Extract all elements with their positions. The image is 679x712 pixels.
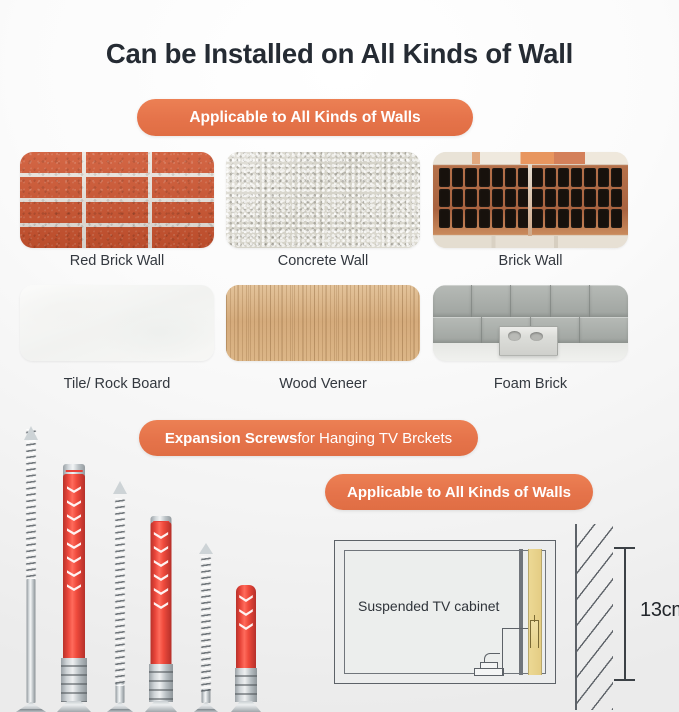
wall-type-wood-veneer: Wood Veneer — [226, 285, 420, 397]
device-wire — [484, 653, 500, 662]
hollow-foam-block — [499, 326, 558, 356]
wood-veneer-texture — [226, 285, 420, 361]
wall-socket — [530, 620, 539, 648]
cable-conduit — [502, 628, 528, 676]
wall-type-red-brick: Red Brick Wall — [20, 152, 214, 272]
fastener-group — [0, 408, 300, 712]
badge-label: Applicable to All Kinds of Walls — [347, 484, 571, 501]
badge-applicable-walls-bottom: Applicable to All Kinds of Walls — [325, 474, 593, 510]
wall-type-concrete: Concrete Wall — [226, 152, 420, 272]
concrete-texture — [226, 152, 420, 248]
wall-type-label: Wood Veneer — [226, 376, 420, 392]
dimension-line — [624, 547, 626, 681]
device-base — [474, 668, 504, 676]
hollow-brick-texture — [433, 152, 628, 248]
badge-label: Applicable to All Kinds of Walls — [189, 109, 420, 127]
foam-brick-texture — [433, 285, 628, 361]
wall-hatch-pattern — [577, 524, 613, 710]
dimension-cap-bottom — [614, 679, 635, 681]
page-title: Can be Installed on All Kinds of Wall — [0, 38, 679, 70]
screw-head — [16, 702, 46, 712]
cabinet-gap-highlight — [528, 549, 542, 675]
tile-rock-board-texture — [20, 285, 214, 361]
tv-cabinet-diagram: Suspended TV cabinet 13cm — [322, 520, 679, 712]
dimension-label: 13cm — [640, 599, 679, 622]
wall-type-foam-brick: Foam Brick — [433, 285, 628, 397]
wall-type-tile-rock-board: Tile/ Rock Board — [20, 285, 214, 397]
wall-type-label: Red Brick Wall — [20, 253, 214, 269]
fastener-anchor-short — [230, 584, 262, 712]
wall-type-label: Brick Wall — [433, 253, 628, 269]
wall-type-label: Tile/ Rock Board — [20, 376, 214, 392]
fastener-anchor-medium — [144, 516, 178, 712]
wall-type-brick: Brick Wall — [433, 152, 628, 272]
badge-label-light: for Hanging TV Brckets — [297, 430, 452, 447]
badge-applicable-walls-top: Applicable to All Kinds of Walls — [137, 99, 473, 136]
screw-head — [194, 702, 218, 712]
anchor-collar — [231, 701, 261, 712]
fastener-screw-short — [192, 554, 220, 712]
anchor-collar — [145, 701, 177, 712]
screw-head — [107, 702, 133, 712]
fastener-screw-medium — [104, 494, 136, 712]
dimension-annotation: 13cm — [610, 544, 679, 684]
red-brick-texture — [20, 152, 214, 248]
cabinet-caption: Suspended TV cabinet — [358, 598, 499, 614]
wall-type-label: Foam Brick — [433, 376, 628, 392]
wall-type-label: Concrete Wall — [226, 253, 420, 269]
fastener-anchor-long — [56, 464, 92, 712]
fastener-screw-long — [14, 440, 48, 712]
anchor-collar — [57, 701, 91, 712]
